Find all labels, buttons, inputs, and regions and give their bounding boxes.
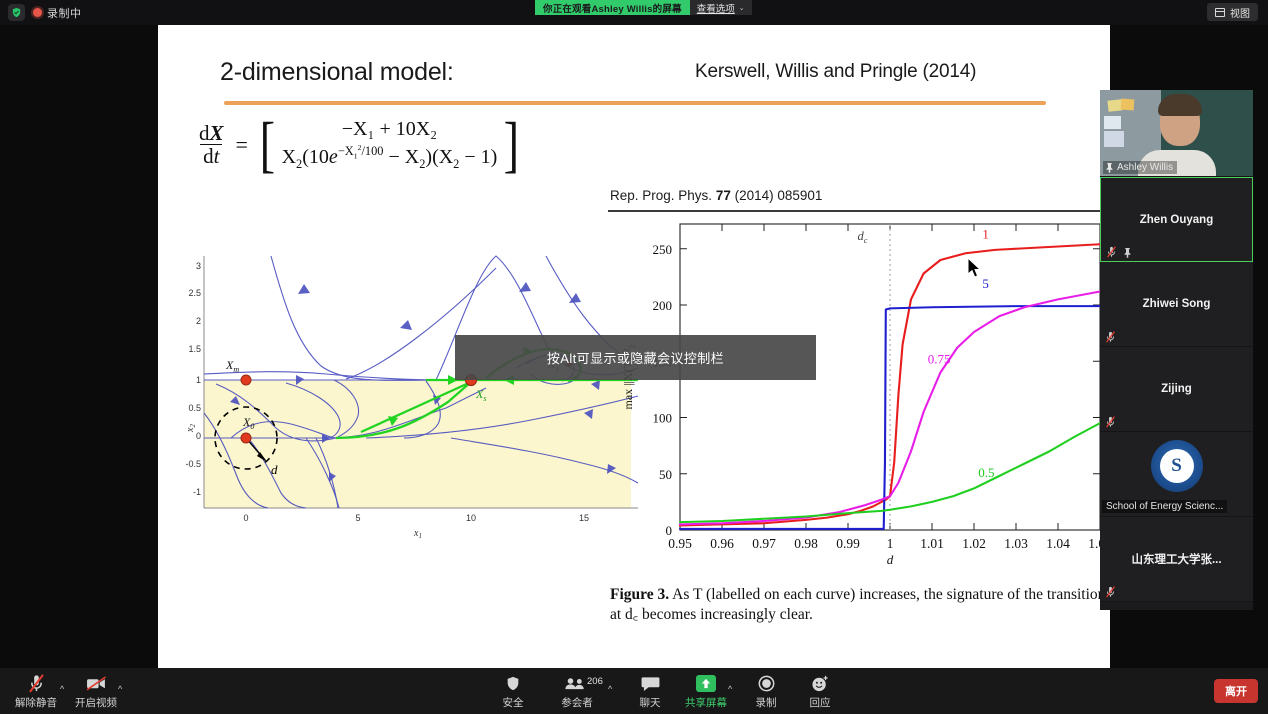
chart-series-label-1: 1 (982, 227, 989, 242)
journal-figure: Rep. Prog. Phys. 77 (2014) 085901 050100… (608, 180, 1108, 630)
record-label: 录制 (756, 695, 777, 710)
svg-text:-0.5: -0.5 (186, 459, 201, 469)
participant-tile-zijing[interactable]: Zijing (1100, 347, 1253, 432)
svg-text:3: 3 (196, 261, 201, 271)
y-tick-label: 100 (653, 411, 673, 426)
video-options-caret-icon[interactable]: ^ (118, 684, 122, 694)
svg-text:15: 15 (579, 513, 589, 523)
y-tick-label: 50 (659, 467, 672, 482)
reactions-button[interactable]: 回应 (796, 674, 844, 710)
equation-row-2: X2(10e−X12/100 − X2)(X2 − 1) (282, 143, 498, 172)
y-tick-label: 200 (653, 298, 673, 313)
start-video-button[interactable]: 开启视频 (72, 674, 120, 710)
x-tick-label: 0.97 (752, 536, 776, 551)
x-tick-label: 1 (887, 536, 894, 551)
pin-icon (1123, 247, 1132, 258)
share-screen-icon (696, 674, 716, 693)
participant-badges (1106, 246, 1132, 258)
camera-muted-icon (86, 674, 107, 693)
meeting-controls-toolbar: 解除静音 ^ 开启视频 ^ 安全 (0, 668, 1268, 714)
participant-name: Zhiwei Song (1100, 262, 1253, 346)
recording-label: 录制中 (47, 5, 82, 21)
security-button[interactable]: 安全 (489, 674, 537, 710)
chart-series-label-0.5: 0.5 (978, 465, 994, 480)
y-axis-label: x2 (186, 424, 197, 433)
top-bar: 录制中 你正在观看Ashley Willis的屏幕 查看选项 ⌄ 视图 (0, 0, 1268, 25)
x-tick-label: 1.01 (920, 536, 944, 551)
security-label: 安全 (503, 695, 524, 710)
figure-caption-text: As T (labelled on each curve) increases,… (610, 586, 1105, 623)
participant-name-overlay: Ashley Willis (1103, 161, 1177, 174)
x-tick-label: 1.03 (1004, 536, 1028, 551)
x-tick-label: 1.02 (962, 536, 986, 551)
transition-chart: 0501001502002500.950.960.970.980.9911.01… (608, 212, 1108, 582)
record-button[interactable]: 录制 (742, 674, 790, 710)
journal-reference-line: Rep. Prog. Phys. 77 (2014) 085901 (610, 188, 822, 203)
annotation-xm: Xm (225, 358, 239, 374)
title-underline (224, 101, 1046, 105)
svg-text:2.5: 2.5 (188, 288, 201, 298)
svg-text:0: 0 (243, 513, 248, 523)
leave-meeting-button[interactable]: 离开 (1214, 679, 1258, 703)
equation-numerator: dX (196, 122, 227, 145)
participant-tile-zhiwei-song[interactable]: Zhiwei Song (1100, 262, 1253, 347)
bracket-right-icon: ] (504, 126, 519, 164)
chart-series-label-0.75: 0.75 (928, 352, 951, 367)
recording-indicator-group: 录制中 (8, 4, 82, 21)
participant-badges (1105, 586, 1116, 598)
participants-label: 参会者 (561, 695, 593, 710)
avatar: S (1151, 440, 1203, 492)
participant-name: 山东理工大学张... (1100, 517, 1253, 601)
participant-tile-shandong[interactable]: 山东理工大学张... (1100, 517, 1253, 602)
participant-badges (1105, 331, 1116, 343)
mic-muted-icon (28, 674, 45, 693)
participants-button[interactable]: 206 参会者 (553, 674, 601, 710)
unmute-button[interactable]: 解除静音 (12, 674, 60, 710)
reactions-smiley-icon (811, 674, 829, 693)
y-axis-ticks: 3 2.5 2 1.5 1 0.5 0 -0.5 -1 (186, 261, 201, 497)
shield-icon (505, 674, 521, 693)
svg-text:-1: -1 (193, 487, 201, 497)
matrix-bracket: [ −X₁ + 10X₂ X2(10e−X12/100 − X2)(X2 − 1… (257, 118, 522, 172)
chevron-down-icon: ⌄ (739, 4, 745, 12)
svg-text:1.5: 1.5 (188, 344, 201, 354)
chart-x-axis-label: d (887, 552, 894, 567)
view-button[interactable]: 视图 (1207, 3, 1258, 21)
alt-key-tooltip: 按Alt可显示或隐藏会议控制栏 (455, 335, 816, 380)
share-screen-label: 共享屏幕 (685, 695, 727, 710)
svg-text:1: 1 (196, 375, 201, 385)
x-tick-label: 0.99 (836, 536, 860, 551)
paper-note-icon (1104, 131, 1124, 147)
x-tick-label: 1.04 (1046, 536, 1070, 551)
start-video-label: 开启视频 (75, 695, 117, 710)
recording-status[interactable]: 录制中 (33, 5, 82, 21)
equals-sign: = (236, 132, 248, 158)
chat-label: 聊天 (640, 695, 661, 710)
mic-muted-icon (1105, 586, 1116, 598)
svg-text:5: 5 (355, 513, 360, 523)
shield-check-icon[interactable] (8, 4, 25, 21)
svg-text:10: 10 (466, 513, 476, 523)
model-equation: dX dt = [ −X₁ + 10X₂ X2(10e−X12/100 − X2… (196, 118, 522, 172)
x-tick-label: 0.95 (668, 536, 692, 551)
basin-of-attraction-region (204, 380, 631, 508)
fixed-point-x0 (241, 433, 251, 443)
share-screen-button[interactable]: 共享屏幕 (682, 674, 730, 710)
svg-text:0: 0 (196, 431, 201, 441)
record-dot-icon (33, 8, 42, 17)
annotation-d: d (271, 462, 278, 477)
figure-caption-label: Figure 3. (610, 586, 669, 603)
unmute-label: 解除静音 (15, 695, 57, 710)
participant-tile-zhen-ouyang[interactable]: Zhen Ouyang (1100, 177, 1253, 262)
slide-title: 2-dimensional model: (220, 58, 454, 87)
svg-text:2: 2 (196, 316, 201, 326)
pin-icon (1105, 162, 1114, 173)
slide-citation: Kerswell, Willis and Pringle (2014) (695, 61, 976, 83)
participant-name: School of Energy Scienc... (1102, 500, 1227, 513)
view-button-label: 视图 (1230, 5, 1250, 20)
mic-muted-icon (1105, 331, 1116, 343)
chat-bubble-icon (641, 674, 660, 693)
phase-portrait-svg: 3 2.5 2 1.5 1 0.5 0 -0.5 -1 0 5 10 (186, 248, 641, 538)
screen-share-banner: 你正在观看Ashley Willis的屏幕 查看选项 ⌄ (535, 0, 752, 15)
x-tick-label: 0.96 (710, 536, 734, 551)
zoom-meeting-window: 录制中 你正在观看Ashley Willis的屏幕 查看选项 ⌄ 视图 2-di… (0, 0, 1268, 714)
equation-row-1: −X₁ + 10X₂ (342, 118, 437, 141)
view-options-button[interactable]: 查看选项 ⌄ (690, 0, 752, 15)
chat-button[interactable]: 聊天 (626, 674, 674, 710)
y-tick-label: 250 (653, 242, 673, 257)
grid-view-icon (1215, 8, 1225, 17)
x-axis-ticks: 0 5 10 15 (243, 513, 589, 523)
sticky-note-icon (1121, 99, 1135, 111)
audio-options-caret-icon[interactable]: ^ (60, 684, 64, 694)
university-logo-icon: S (1160, 449, 1194, 483)
speaker-hair (1158, 94, 1202, 116)
participant-name: Zijing (1100, 347, 1253, 431)
view-options-label: 查看选项 (697, 1, 735, 15)
viewing-screen-label: 你正在观看Ashley Willis的屏幕 (535, 0, 690, 15)
mouse-cursor (968, 258, 984, 280)
derivative-fraction: dX dt (196, 122, 227, 168)
svg-text:0.5: 0.5 (188, 403, 201, 413)
paper-note-icon (1104, 116, 1121, 129)
participant-name: Ashley Willis (1117, 162, 1173, 173)
participant-tile-ashley-willis[interactable]: Ashley Willis (1100, 90, 1253, 177)
mic-muted-icon (1106, 246, 1117, 258)
participant-tile-school-of-energy[interactable]: S School of Energy Scienc... (1100, 432, 1253, 517)
figure-caption: Figure 3. As T (labelled on each curve) … (610, 585, 1108, 625)
reactions-label: 回应 (810, 695, 831, 710)
phase-portrait-plot: 3 2.5 2 1.5 1 0.5 0 -0.5 -1 0 5 10 (186, 248, 641, 538)
participants-caret-icon[interactable]: ^ (608, 684, 612, 694)
participant-strip[interactable]: Ashley Willis Zhen Ouyang Zhiwei Song (1100, 90, 1253, 610)
equation-denominator: dt (200, 144, 222, 168)
fixed-point-xm (241, 375, 251, 385)
x-axis-label: x1 (413, 528, 422, 538)
participant-badges (1105, 416, 1116, 428)
mic-muted-icon (1105, 416, 1116, 428)
record-circle-icon (758, 674, 775, 693)
bracket-left-icon: [ (260, 126, 275, 164)
share-options-caret-icon[interactable]: ^ (728, 684, 732, 694)
x-tick-label: 0.98 (794, 536, 818, 551)
participants-count: 206 (587, 676, 603, 687)
